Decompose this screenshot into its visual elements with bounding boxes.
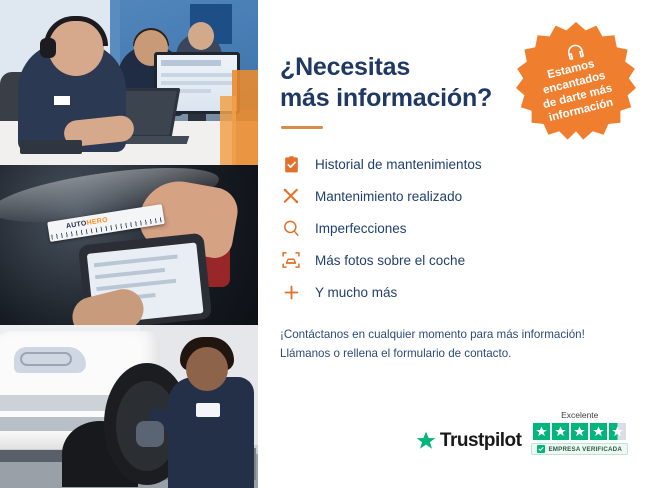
star-filled [571,423,588,440]
content-panel: ¿Necesitas más información? Historial de… [258,0,650,488]
trustpilot-stars [533,423,626,440]
contact-info-banner: AUTOHERO [0,0,650,488]
screen-row [161,73,233,77]
screen-row [161,81,233,85]
contact-line-1: ¡Contáctanos en cualquier momento para m… [280,328,585,341]
mechanic-logo-badge [196,403,220,417]
headlight-inner [20,352,72,366]
orange-equipment-2 [220,96,236,165]
call-center-agents-photo [0,0,258,165]
mechanic-glove [136,421,164,447]
clipboard-check-icon [280,153,302,175]
check-icon [537,445,545,453]
car-inspection-ruler-photo: AUTOHERO [0,165,258,325]
contact-line-2: Llámanos o rellena el formulario de cont… [280,347,511,360]
car-headlight [14,347,86,373]
feature-item-more-photos: Más fotos sobre el coche [280,244,626,276]
verified-company-badge: EMPRESA VERIFICADA [531,443,628,455]
photo-collage: AUTOHERO [0,0,258,488]
headset-earpad [40,38,56,58]
crossed-tools-icon [280,185,302,207]
car-grille [0,395,122,411]
feature-item-imperfections: Imperfecciones [280,212,626,244]
mechanic-head [186,347,228,391]
contact-text: ¡Contáctanos en cualquier momento para m… [280,325,626,364]
tablet-row [95,268,165,279]
feature-item-maintenance-done: Mantenimiento realizado [280,180,626,212]
feature-item-maintenance-history: Historial de mantenimientos [280,148,626,180]
trustpilot-logo-text: Trustpilot [440,430,522,452]
headline-line-1: ¿Necesitas [280,53,410,81]
feature-list: Historial de mantenimientos Mantenimient… [280,148,626,308]
plus-icon [280,281,302,303]
headline-line-2: más información? [280,84,492,112]
feature-label: Historial de mantenimientos [315,157,482,172]
background-agent-head [188,22,214,50]
star-half [609,423,626,440]
magnifier-icon [280,217,302,239]
desk-tablet [20,140,82,154]
feature-label: Mantenimiento realizado [315,189,462,204]
trustpilot-rating-label: Excelente [561,410,598,420]
promo-starburst-badge: Estamos encantados de darte más informac… [516,22,636,142]
feature-label: Y mucho más [315,285,397,300]
tablet-row [94,254,178,267]
verified-company-text: EMPRESA VERIFICADA [548,446,622,453]
screen-toolbar [161,60,221,66]
trustpilot-rating-block: Excelente EMPRESA VERIFICADA [531,410,628,455]
feature-label: Más fotos sobre el coche [315,253,465,268]
trustpilot-widget[interactable]: Trustpilot Excelente EMPRESA VERIFICADA [415,410,628,455]
mechanic-wheel-photo [0,325,258,488]
star-filled [590,423,607,440]
star-filled [533,423,550,440]
car-photo-frame-icon [280,249,302,271]
feature-item-much-more: Y mucho más [280,276,626,308]
trustpilot-star-icon [415,430,437,452]
feature-label: Imperfecciones [315,221,407,236]
employee-name-badge [54,96,70,105]
trustpilot-logo[interactable]: Trustpilot [415,430,522,455]
tablet-row [96,279,176,291]
star-filled [552,423,569,440]
accent-divider [281,126,323,129]
